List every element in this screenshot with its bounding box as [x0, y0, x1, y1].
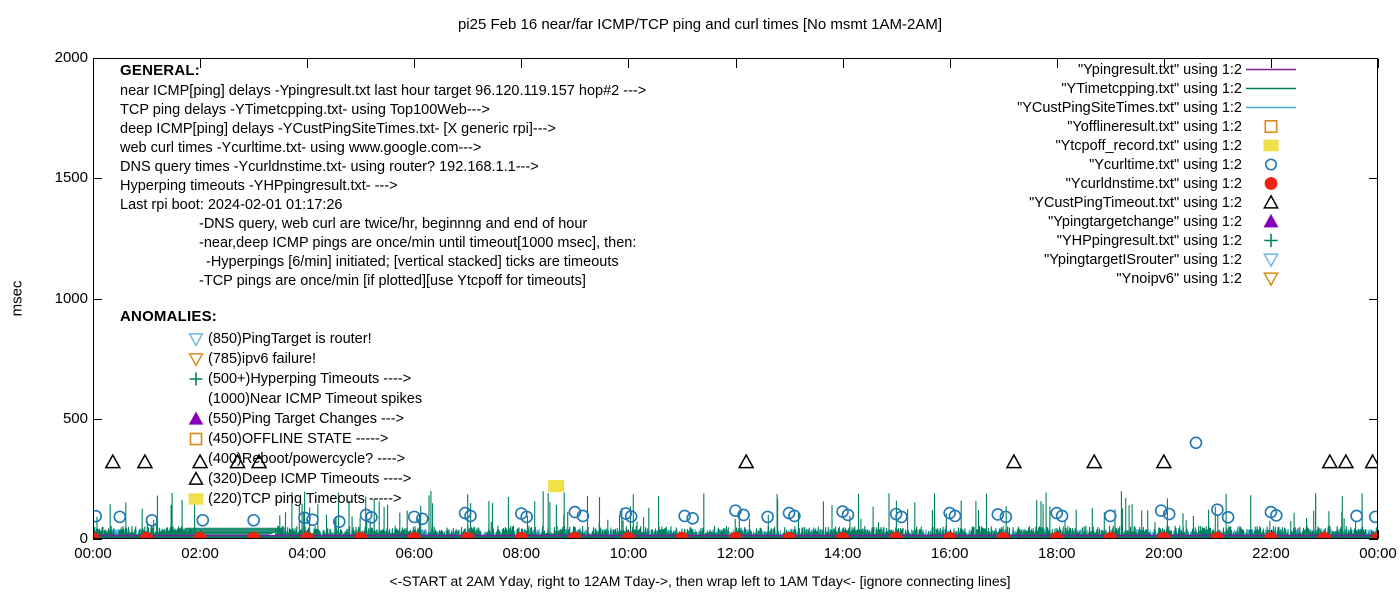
legend-item-label: "YpingtargetISrouter" using 1:2 — [1044, 252, 1242, 268]
legend-item-swatch — [1242, 136, 1300, 155]
anomaly-item: (850)PingTarget is router! — [120, 329, 422, 349]
y-tick-mark — [1369, 539, 1378, 540]
anomaly-label: (550)Ping Target Changes ---> — [208, 411, 404, 427]
anomaly-symbol-filled-triangle-icon — [186, 409, 208, 429]
general-line: near ICMP[ping] delays -Ypingresult.txt … — [120, 83, 646, 102]
legend-item-swatch — [1242, 250, 1300, 269]
anomaly-item: (500+)Hyperping Timeouts ----> — [120, 369, 422, 389]
anomaly-symbol-open-down-triangle-orange-icon — [186, 349, 208, 369]
anomaly-item: (220)TCP ping Timeouts -----> — [120, 489, 422, 509]
anomaly-item: (1000)Near ICMP Timeout spikes — [120, 389, 422, 409]
x-tick-label: 04:00 — [288, 545, 326, 562]
legend-item-swatch — [1242, 79, 1300, 98]
anomaly-symbol-open-down-triangle-icon — [186, 329, 208, 349]
legend-item-label: "Yofflineresult.txt" using 1:2 — [1067, 119, 1242, 135]
general-line: Last rpi boot: 2024-02-01 01:17:26 — [120, 197, 646, 216]
anomaly-item: (400)Reboot/powercycle? ----> — [120, 449, 422, 469]
y-tick-label: 1500 — [55, 169, 88, 186]
x-tick-label: 22:00 — [1252, 545, 1290, 562]
legend-item[interactable]: "YCustPingTimeout.txt" using 1:2 — [940, 193, 1300, 212]
anomaly-label: (320)Deep ICMP Timeouts ----> — [208, 471, 411, 487]
anomaly-symbol-none-icon — [186, 449, 208, 469]
legend-item-label: "Ypingresult.txt" using 1:2 — [1078, 62, 1242, 78]
legend-item[interactable]: "YTimetcpping.txt" using 1:2 — [940, 79, 1300, 98]
legend-item-swatch — [1242, 193, 1300, 212]
legend-item-label: "Ycurltime.txt" using 1:2 — [1089, 157, 1242, 173]
legend-item[interactable]: "YHPpingresult.txt" using 1:2 — [940, 231, 1300, 250]
anomalies-list: (850)PingTarget is router!(785)ipv6 fail… — [120, 329, 422, 509]
general-heading: GENERAL: — [120, 62, 646, 83]
anomalies-annotation-block: ANOMALIES: (850)PingTarget is router!(78… — [120, 308, 422, 509]
general-line: DNS query times -Ycurldnstime.txt- using… — [120, 159, 646, 178]
legend-item-swatch — [1242, 231, 1300, 250]
legend: "Ypingresult.txt" using 1:2"YTimetcpping… — [940, 60, 1300, 288]
legend-item[interactable]: "Ycurldnstime.txt" using 1:2 — [940, 174, 1300, 193]
legend-item[interactable]: "YpingtargetISrouter" using 1:2 — [940, 250, 1300, 269]
legend-item-label: "YHPpingresult.txt" using 1:2 — [1057, 233, 1242, 249]
anomaly-label: (1000)Near ICMP Timeout spikes — [208, 391, 422, 407]
anomaly-item: (320)Deep ICMP Timeouts ----> — [120, 469, 422, 489]
x-tick-label: 08:00 — [503, 545, 541, 562]
legend-item-swatch — [1242, 60, 1300, 79]
x-axis-caption: <-START at 2AM Yday, right to 12AM Tday-… — [0, 573, 1400, 589]
x-tick-label: 00:00 — [74, 545, 112, 562]
y-tick-label: 2000 — [55, 49, 88, 66]
general-line: Hyperping timeouts -YHPpingresult.txt- -… — [120, 178, 646, 197]
legend-item-swatch — [1242, 269, 1300, 288]
x-tick-label: 20:00 — [1145, 545, 1183, 562]
anomaly-symbol-plus-icon — [186, 369, 208, 389]
anomaly-symbol-open-triangle-icon — [186, 469, 208, 489]
legend-item[interactable]: "Ytcpoff_record.txt" using 1:2 — [940, 136, 1300, 155]
x-tick-label: 06:00 — [395, 545, 433, 562]
x-tick-label: 00:00 — [1359, 545, 1397, 562]
x-tick-label: 16:00 — [931, 545, 969, 562]
x-tick-label: 02:00 — [181, 545, 219, 562]
legend-item[interactable]: "Ycurltime.txt" using 1:2 — [940, 155, 1300, 174]
legend-item[interactable]: "Ynoipv6" using 1:2 — [940, 269, 1300, 288]
legend-item-label: "Ypingtargetchange" using 1:2 — [1048, 214, 1242, 230]
legend-item-label: "Ytcpoff_record.txt" using 1:2 — [1055, 138, 1242, 154]
general-annotation-block: GENERAL: near ICMP[ping] delays -Ypingre… — [120, 62, 646, 292]
general-line: deep ICMP[ping] delays -YCustPingSiteTim… — [120, 121, 646, 140]
legend-item[interactable]: "Ypingresult.txt" using 1:2 — [940, 60, 1300, 79]
anomaly-item: (450)OFFLINE STATE -----> — [120, 429, 422, 449]
legend-item[interactable]: "YCustPingSiteTimes.txt" using 1:2 — [940, 98, 1300, 117]
y-axis-title: msec — [9, 269, 26, 329]
anomaly-symbol-none-icon — [186, 389, 208, 409]
x-tick-mark — [1378, 530, 1379, 539]
legend-item-label: "Ycurldnstime.txt" using 1:2 — [1066, 176, 1242, 192]
anomaly-label: (500+)Hyperping Timeouts ----> — [208, 371, 411, 387]
legend-item-label: "Ynoipv6" using 1:2 — [1116, 271, 1242, 287]
legend-item-label: "YCustPingTimeout.txt" using 1:2 — [1029, 195, 1242, 211]
legend-item-swatch — [1242, 98, 1300, 117]
x-tick-mark — [1378, 59, 1379, 68]
legend-item[interactable]: "Ypingtargetchange" using 1:2 — [940, 212, 1300, 231]
anomaly-label: (850)PingTarget is router! — [208, 331, 372, 347]
legend-item-swatch — [1242, 155, 1300, 174]
anomaly-symbol-filled-square-icon — [186, 489, 208, 509]
general-note: -near,deep ICMP pings are once/min until… — [120, 235, 646, 254]
general-note: -DNS query, web curl are twice/hr, begin… — [120, 216, 646, 235]
series-Ytcpoff_record — [549, 480, 564, 491]
anomaly-label: (400)Reboot/powercycle? ----> — [208, 451, 405, 467]
legend-item-swatch — [1242, 174, 1300, 193]
legend-item[interactable]: "Yofflineresult.txt" using 1:2 — [940, 117, 1300, 136]
x-tick-label: 14:00 — [824, 545, 862, 562]
anomaly-label: (220)TCP ping Timeouts -----> — [208, 491, 402, 507]
legend-item-label: "YCustPingSiteTimes.txt" using 1:2 — [1017, 100, 1242, 116]
anomalies-heading: ANOMALIES: — [120, 308, 422, 329]
anomaly-item: (785)ipv6 failure! — [120, 349, 422, 369]
chart-title: pi25 Feb 16 near/far ICMP/TCP ping and c… — [0, 16, 1400, 33]
legend-item-swatch — [1242, 212, 1300, 231]
x-tick-label: 18:00 — [1038, 545, 1076, 562]
legend-item-label: "YTimetcpping.txt" using 1:2 — [1061, 81, 1242, 97]
y-tick-label: 1000 — [55, 290, 88, 307]
anomaly-item: (550)Ping Target Changes ---> — [120, 409, 422, 429]
general-note: -TCP pings are once/min [if plotted][use… — [120, 273, 646, 292]
general-line: web curl times -Ycurltime.txt- using www… — [120, 140, 646, 159]
anomaly-label: (450)OFFLINE STATE -----> — [208, 431, 388, 447]
x-tick-label: 12:00 — [717, 545, 755, 562]
legend-item-swatch — [1242, 117, 1300, 136]
general-lines: near ICMP[ping] delays -Ypingresult.txt … — [120, 83, 646, 216]
general-note: -Hyperpings [6/min] initiated; [vertical… — [120, 254, 646, 273]
general-notes: -DNS query, web curl are twice/hr, begin… — [120, 216, 646, 292]
anomaly-symbol-open-square-icon — [186, 429, 208, 449]
y-tick-label: 500 — [63, 410, 88, 427]
general-line: TCP ping delays -YTimetcpping.txt- using… — [120, 102, 646, 121]
y-tick-mark — [93, 539, 102, 540]
x-tick-label: 10:00 — [610, 545, 648, 562]
anomaly-label: (785)ipv6 failure! — [208, 351, 316, 367]
